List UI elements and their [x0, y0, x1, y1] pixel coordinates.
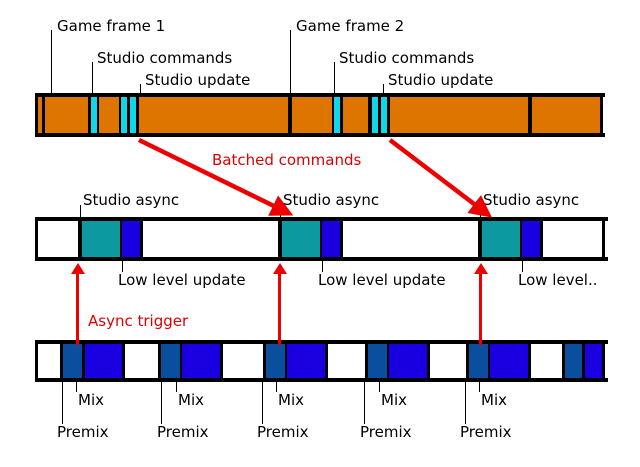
segment-steel: [469, 344, 488, 378]
leader-line: [280, 205, 281, 217]
segment-divider: [602, 221, 605, 257]
segment-teal: [482, 221, 520, 257]
segment-steel: [63, 344, 82, 378]
segment-white: [223, 344, 263, 378]
async-trigger-arrow-shaft: [76, 272, 79, 345]
segment-teal: [82, 221, 120, 257]
segment-white: [38, 344, 60, 378]
leader-line: [364, 380, 365, 424]
segment-orange: [343, 97, 368, 133]
annotation-async-trigger: Async trigger: [88, 313, 188, 329]
label-text: Game frame 1: [57, 18, 165, 34]
label-text: Premix: [257, 424, 309, 440]
segment-blue: [182, 344, 220, 378]
segment-divider: [602, 344, 605, 378]
segment-white: [343, 221, 478, 257]
label-text: Mix: [481, 392, 507, 408]
leader-line: [122, 258, 123, 272]
timeline-bar-studio-thread: [35, 217, 608, 261]
label-text: Mix: [381, 392, 407, 408]
leader-line: [76, 380, 77, 392]
segment-blue: [522, 221, 540, 257]
label-text: Mix: [78, 392, 104, 408]
segment-orange: [390, 97, 528, 133]
leader-line: [290, 30, 291, 93]
leader-line: [479, 380, 480, 392]
segment-white: [125, 344, 158, 378]
leader-line: [379, 380, 380, 392]
leader-line: [62, 380, 63, 424]
segment-orange: [139, 97, 288, 133]
label-text: Low level update: [118, 272, 246, 288]
segment-orange: [532, 97, 600, 133]
segment-steel: [565, 344, 582, 378]
timeline-bar-mixer-thread: [35, 340, 608, 382]
segment-blue: [389, 344, 427, 378]
batched-command-arrow: [390, 140, 482, 210]
segment-teal: [282, 221, 320, 257]
label-text: Studio async: [483, 192, 579, 208]
segment-white: [430, 344, 466, 378]
label-text: Studio commands: [97, 50, 232, 66]
diagram-canvas: Game frame 1Studio commandsStudio update…: [0, 0, 640, 467]
segment-blue: [322, 221, 340, 257]
segment-white: [531, 344, 562, 378]
leader-line: [322, 258, 323, 272]
leader-line: [262, 380, 263, 424]
async-trigger-arrow-shaft: [479, 272, 482, 345]
async-trigger-arrow-head: [273, 263, 287, 274]
segment-steel: [368, 344, 387, 378]
segment-orange: [45, 97, 88, 133]
segment-steel: [161, 344, 180, 378]
segment-orange: [99, 97, 119, 133]
segment-blue: [585, 344, 602, 378]
segment-white: [38, 221, 78, 257]
leader-line: [51, 30, 52, 93]
label-text: Premix: [360, 424, 412, 440]
label-text: Mix: [178, 392, 204, 408]
label-text: Low level update: [318, 272, 446, 288]
leader-line: [92, 62, 93, 93]
segment-blue: [122, 221, 140, 257]
segment-steel: [266, 344, 285, 378]
label-text: Studio update: [145, 72, 250, 88]
segment-white: [143, 221, 278, 257]
segment-orange: [292, 97, 332, 133]
segment-white: [543, 221, 602, 257]
async-trigger-arrow-head: [71, 263, 85, 274]
timeline-bar-game-thread: [35, 93, 605, 137]
label-text: Premix: [460, 424, 512, 440]
leader-line: [465, 380, 466, 424]
leader-line: [80, 205, 81, 217]
leader-line: [276, 380, 277, 392]
async-trigger-arrow-head: [474, 263, 488, 274]
segment-blue: [287, 344, 325, 378]
leader-line: [161, 380, 162, 424]
annotation-batched-commands: Batched commands: [212, 152, 361, 168]
label-text: Studio commands: [339, 50, 474, 66]
label-text: Low level..: [518, 272, 598, 288]
segment-divider: [600, 97, 603, 133]
segment-blue: [490, 344, 528, 378]
leader-line: [176, 380, 177, 392]
leader-line: [140, 84, 141, 93]
segment-blue: [85, 344, 122, 378]
label-text: Studio update: [388, 72, 493, 88]
leader-line: [334, 62, 335, 93]
leader-line: [383, 84, 384, 93]
leader-line: [480, 205, 481, 217]
label-text: Premix: [57, 424, 109, 440]
label-text: Mix: [278, 392, 304, 408]
segment-white: [328, 344, 365, 378]
async-trigger-arrow-shaft: [278, 272, 281, 345]
label-text: Studio async: [283, 192, 379, 208]
label-text: Premix: [157, 424, 209, 440]
leader-line: [522, 258, 523, 272]
label-text: Studio async: [83, 192, 179, 208]
label-text: Game frame 2: [296, 18, 404, 34]
